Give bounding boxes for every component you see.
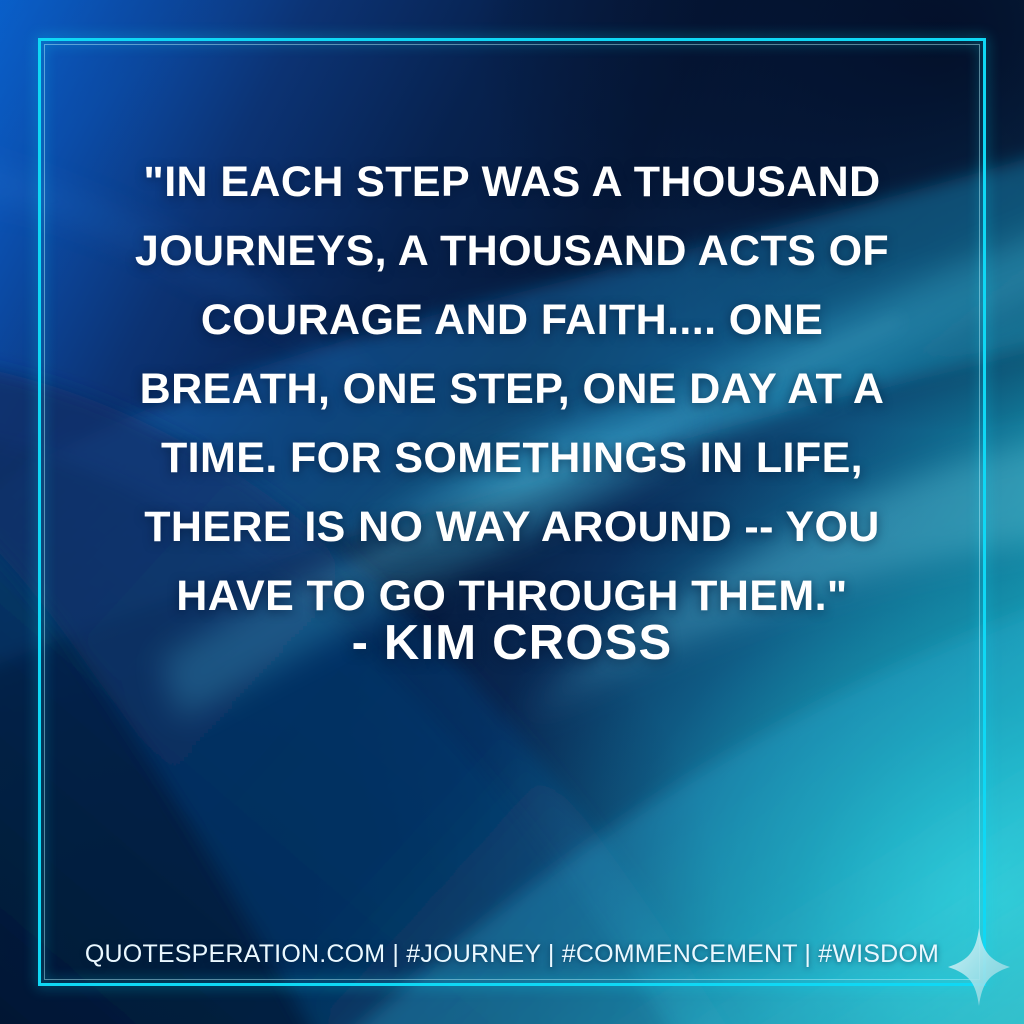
author-attribution: - KIM CROSS [90,615,934,671]
quote-line: BREATH, ONE STEP, ONE DAY AT A [90,355,934,424]
footer-bar: QUOTESPERATION.COM | #JOURNEY | #COMMENC… [0,940,1024,969]
footer-credits-text: QUOTESPERATION.COM | #JOURNEY | #COMMENC… [85,940,939,969]
quote-line: JOURNEYS, A THOUSAND ACTS OF [90,217,934,286]
quote-line: TIME. FOR SOMETHINGS IN LIFE, [90,424,934,493]
quote-line: "IN EACH STEP WAS A THOUSAND [90,148,934,217]
quote-line: THERE IS NO WAY AROUND -- YOU [90,493,934,562]
quote-line: COURAGE AND FAITH.... ONE [90,286,934,355]
quote-text-block: "IN EACH STEP WAS A THOUSAND JOURNEYS, A… [90,148,934,631]
quote-card: "IN EACH STEP WAS A THOUSAND JOURNEYS, A… [0,0,1024,1024]
